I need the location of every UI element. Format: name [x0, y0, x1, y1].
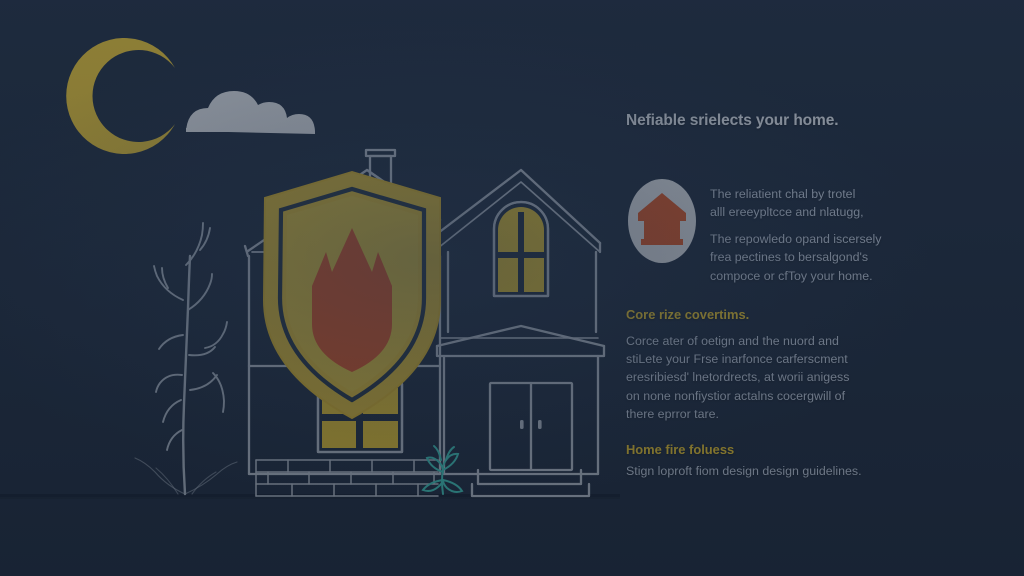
intro-row: The reliatient chal by trotel alll ereey… [626, 141, 926, 285]
cloud-icon [186, 91, 315, 134]
info-panel: Nefiable srielects your home. The reliat… [626, 112, 926, 480]
house-badge-svg [626, 177, 698, 265]
intro-copy: The reliatient chal by trotel alll ereey… [710, 141, 926, 285]
intro-p2-line-3: compoce or cfToy your home. [710, 267, 926, 285]
section-1-line-3: eresribiesd' lnetordrects, at worii anig… [626, 368, 926, 386]
intro-paragraph-2: The repowledo opand iscersely frea pecti… [710, 230, 926, 285]
porch-roof [437, 326, 604, 346]
panel-title: Nefiable srielects your home. [626, 112, 926, 130]
intro-p1-line-1: The reliatient chal by trotel [710, 185, 926, 203]
intro-p2-line-1: The repowledo opand iscersely [710, 230, 926, 248]
section-1-line-5: there eprror tare. [626, 405, 926, 423]
section-2-heading: Home fire foluess [626, 442, 926, 457]
small-plant-sprout [423, 446, 462, 494]
section-1-heading: Core rize covertims. [626, 307, 926, 322]
poster-canvas: Nefiable srielects your home. The reliat… [0, 0, 1024, 576]
window-arched-attic [494, 202, 548, 296]
home-fire-safety-illustration [0, 0, 620, 576]
front-double-doors[interactable] [490, 383, 572, 470]
porch-roof-band [437, 346, 604, 356]
bare-sapling-tree [135, 223, 237, 494]
fire-safety-shield [264, 172, 440, 418]
crescent-moon-icon [66, 38, 175, 154]
section-2-line-1: Stign loproft fiom design design guideli… [626, 462, 926, 480]
section-2-body: Stign loproft fiom design design guideli… [626, 462, 926, 480]
section-1-line-2: stiLete your Frse inarfonce carferscment [626, 350, 926, 368]
illustration-svg [0, 0, 620, 576]
section-1-line-4: on none nonfiystior actalns cocergwill o… [626, 387, 926, 405]
section-core-coverage: Core rize covertims. Corce ater of oetig… [626, 307, 926, 480]
section-1-body: Corce ater of oetign and the nuord and s… [626, 332, 926, 423]
section-1-line-1: Corce ater of oetign and the nuord and [626, 332, 926, 350]
intro-p2-line-2: frea pectines to bersalgond's [710, 248, 926, 266]
house-badge-icon [626, 177, 698, 265]
intro-p1-line-2: alll ereeypltcce and nlatugg, [710, 203, 926, 221]
intro-paragraph-1: The reliatient chal by trotel alll ereey… [710, 185, 926, 222]
brick-foundation [256, 460, 438, 496]
